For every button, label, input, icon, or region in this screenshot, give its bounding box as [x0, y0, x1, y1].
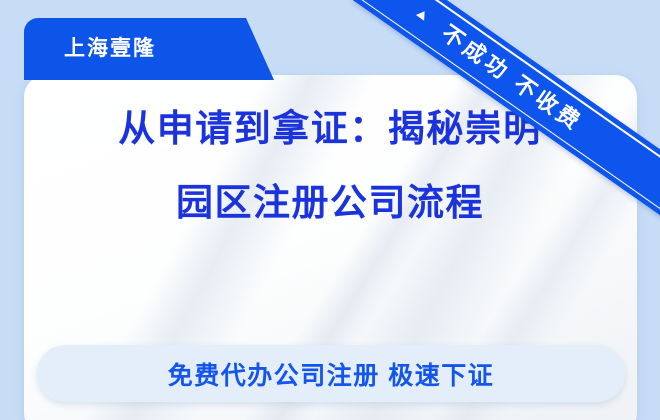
title-line-2: 园区注册公司流程	[0, 166, 660, 240]
triangle-up-icon	[416, 8, 429, 20]
promo-pill-banner[interactable]: 免费代办公司注册 极速下证	[37, 345, 625, 402]
promo-pill-label: 免费代办公司注册 极速下证	[168, 356, 494, 392]
poster-canvas: 上海壹隆 从申请到拿证：揭秘崇明 园区注册公司流程 免费代办公司注册 极速下证 …	[0, 0, 660, 420]
brand-tab-label: 上海壹隆	[64, 32, 156, 62]
brand-tab[interactable]: 上海壹隆	[24, 18, 274, 80]
